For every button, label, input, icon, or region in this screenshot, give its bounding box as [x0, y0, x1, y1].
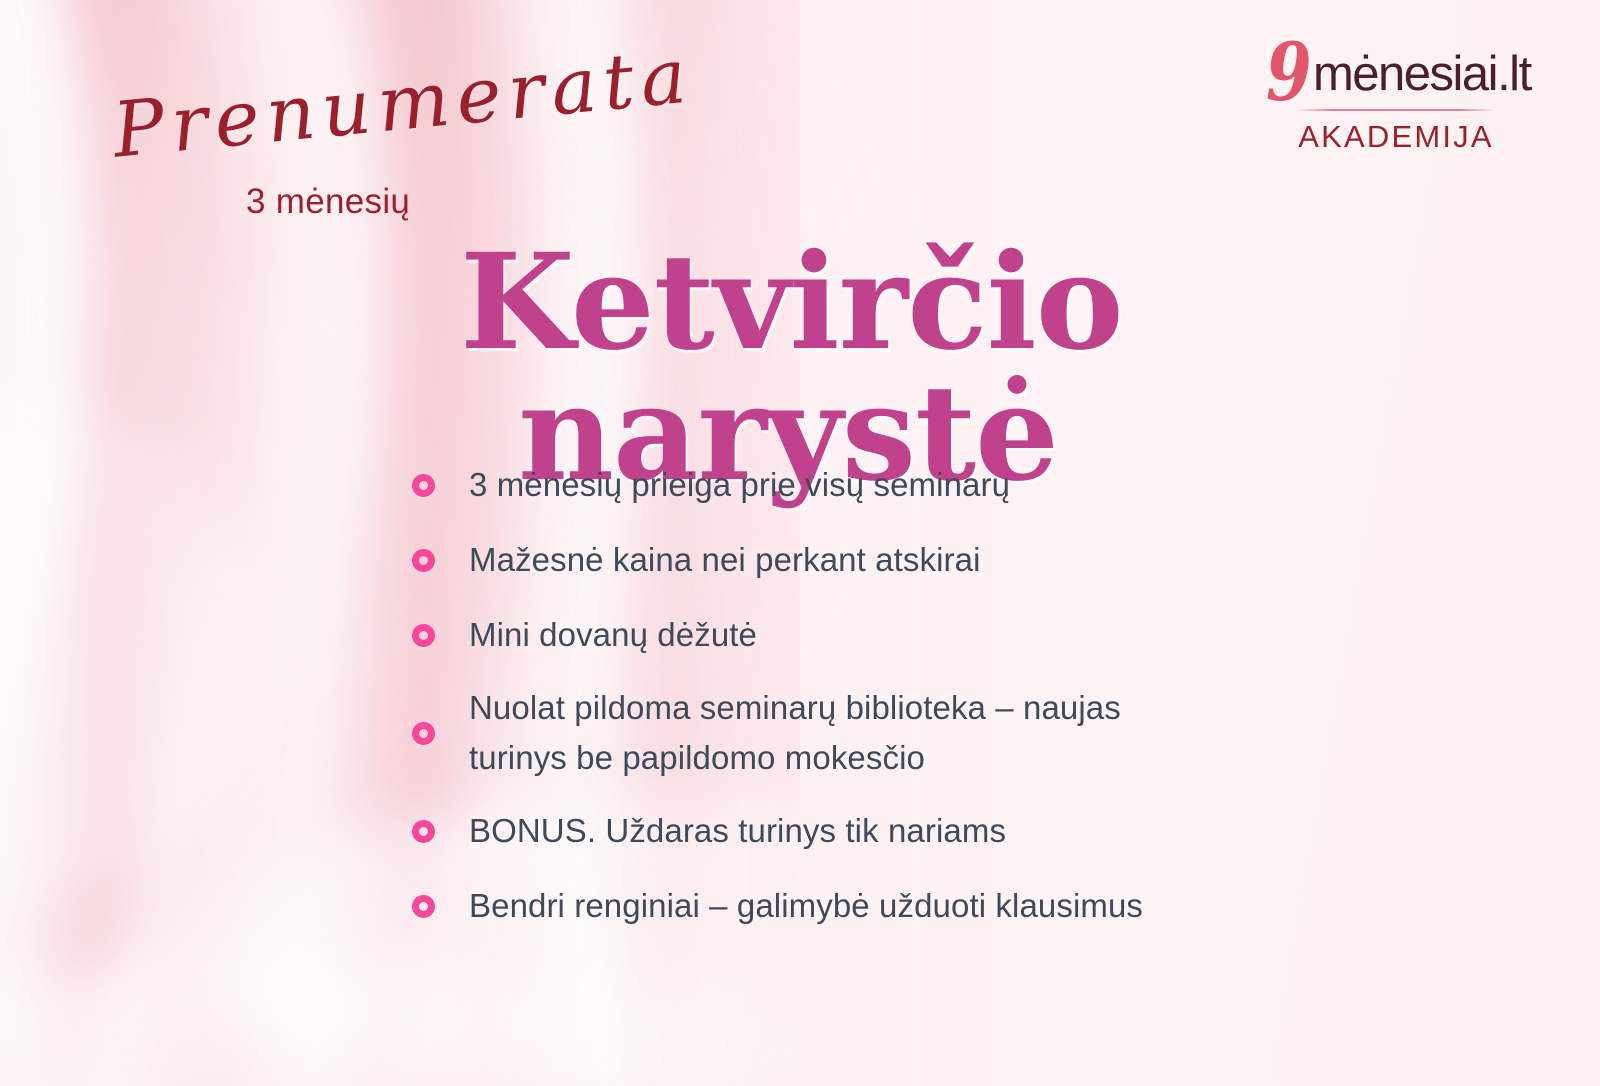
bullet-ring-icon [412, 895, 435, 918]
logo-brand-name: mėnesiai.lt [1313, 50, 1531, 99]
duration-label: 3 mėnesių [246, 182, 410, 222]
feature-text: Bendri renginiai – galimybė užduoti klau… [469, 881, 1143, 931]
list-item: 3 mėnesių prieiga prie visų seminarų [412, 458, 1182, 512]
brand-logo[interactable]: 9 mėnesiai.lt AKADEMIJA [1246, 28, 1546, 155]
feature-list: 3 mėnesių prieiga prie visų seminarų Maž… [412, 458, 1182, 933]
logo-divider [1296, 109, 1496, 111]
feature-text: BONUS. Uždaras turinys tik nariams [469, 806, 1006, 856]
feature-text: Nuolat pildoma seminarų biblioteka – nau… [469, 683, 1182, 783]
list-item: Bendri renginiai – galimybė užduoti klau… [412, 879, 1182, 933]
bullet-ring-icon [412, 474, 435, 497]
feature-text: Mažesnė kaina nei perkant atskirai [469, 535, 981, 585]
logo-wordmark: 9 mėnesiai.lt [1246, 28, 1546, 102]
nine-numeral-icon: 9 [1266, 40, 1312, 106]
logo-subtitle: AKADEMIJA [1246, 119, 1546, 155]
list-item: Mini dovanų dėžutė [412, 608, 1182, 662]
bullet-ring-icon [412, 820, 435, 843]
promo-poster: Prenumerata 3 mėnesių Ketvirčio narystė … [0, 0, 1600, 1086]
bullet-ring-icon [412, 624, 435, 647]
feature-text: 3 mėnesių prieiga prie visų seminarų [469, 460, 1010, 510]
feature-text: Mini dovanų dėžutė [469, 610, 757, 660]
list-item: Mažesnė kaina nei perkant atskirai [412, 533, 1182, 587]
list-item: BONUS. Uždaras turinys tik nariams [412, 804, 1182, 858]
list-item: Nuolat pildoma seminarų biblioteka – nau… [412, 683, 1182, 783]
bullet-ring-icon [412, 722, 435, 745]
bullet-ring-icon [412, 549, 435, 572]
